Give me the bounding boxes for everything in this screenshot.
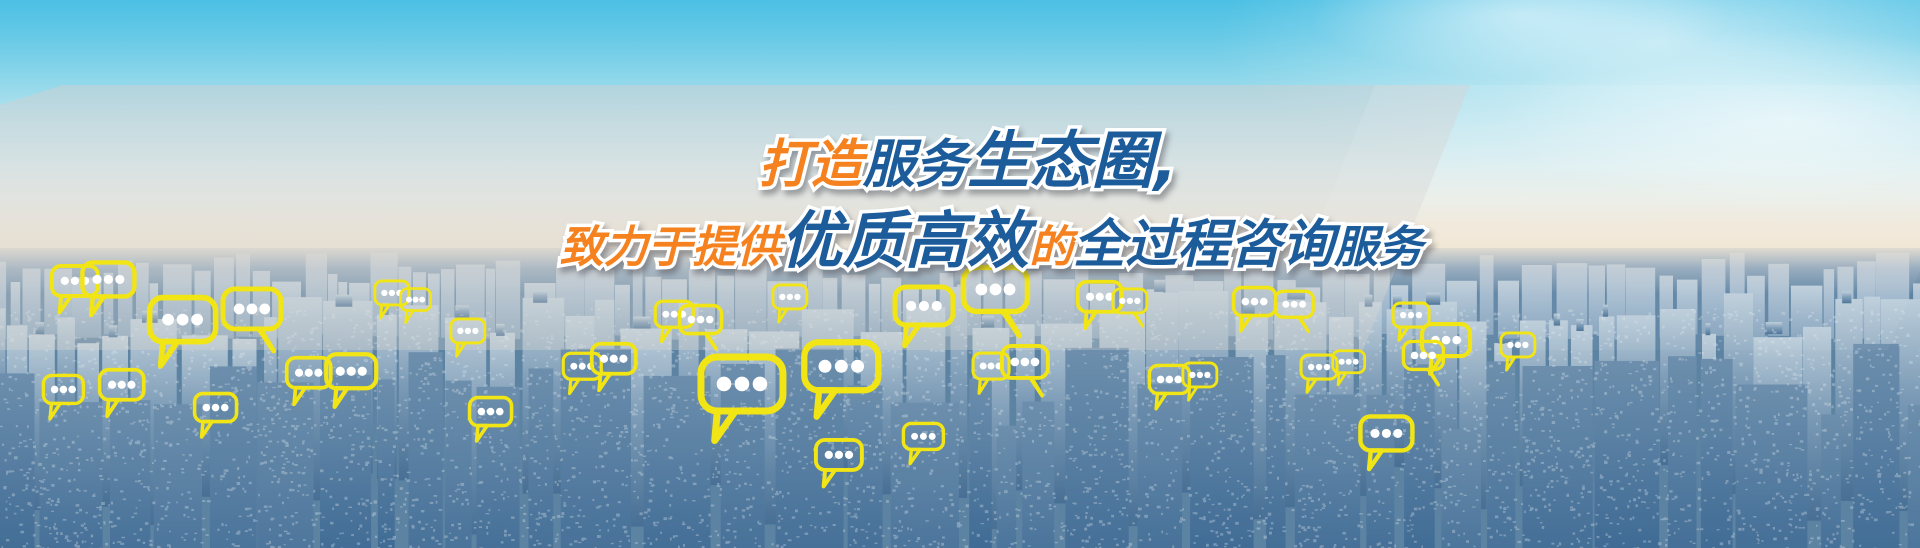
speech-bubble-icon xyxy=(676,302,725,353)
speech-bubble-icon xyxy=(322,350,381,411)
speech-bubble-icon xyxy=(798,336,885,423)
speech-bubble-icon xyxy=(1110,286,1150,329)
speech-bubble-icon xyxy=(1400,338,1447,388)
speech-bubble-icon xyxy=(398,286,433,325)
speech-bubble-icon xyxy=(694,350,790,448)
speech-bubble-icon xyxy=(998,342,1052,399)
speech-bubble-group xyxy=(0,0,1920,548)
speech-bubble-icon xyxy=(1356,412,1417,474)
speech-bubble-icon xyxy=(191,390,240,441)
speech-bubble-icon xyxy=(466,394,515,445)
speech-bubble-icon xyxy=(144,292,221,371)
speech-bubble-icon xyxy=(218,284,286,356)
speech-bubble-icon xyxy=(78,258,139,320)
speech-bubble-icon xyxy=(890,282,958,351)
speech-bubble-icon xyxy=(448,316,488,359)
speech-bubble-icon xyxy=(1272,288,1316,335)
speech-bubble-icon xyxy=(1330,348,1367,388)
speech-bubble-icon xyxy=(96,366,147,420)
speech-bubble-icon xyxy=(40,372,87,422)
speech-bubble-icon xyxy=(1498,330,1538,373)
speech-bubble-icon xyxy=(900,420,947,467)
speech-bubble-icon xyxy=(770,282,810,325)
speech-bubble-icon xyxy=(588,340,639,394)
speech-bubble-icon xyxy=(958,262,1033,341)
promo-banner: 打造服务生态圈, 致力于提供优质高效的全过程咨询服务 xyxy=(0,0,1920,548)
speech-bubble-icon xyxy=(812,436,866,490)
speech-bubble-icon xyxy=(1180,360,1220,403)
